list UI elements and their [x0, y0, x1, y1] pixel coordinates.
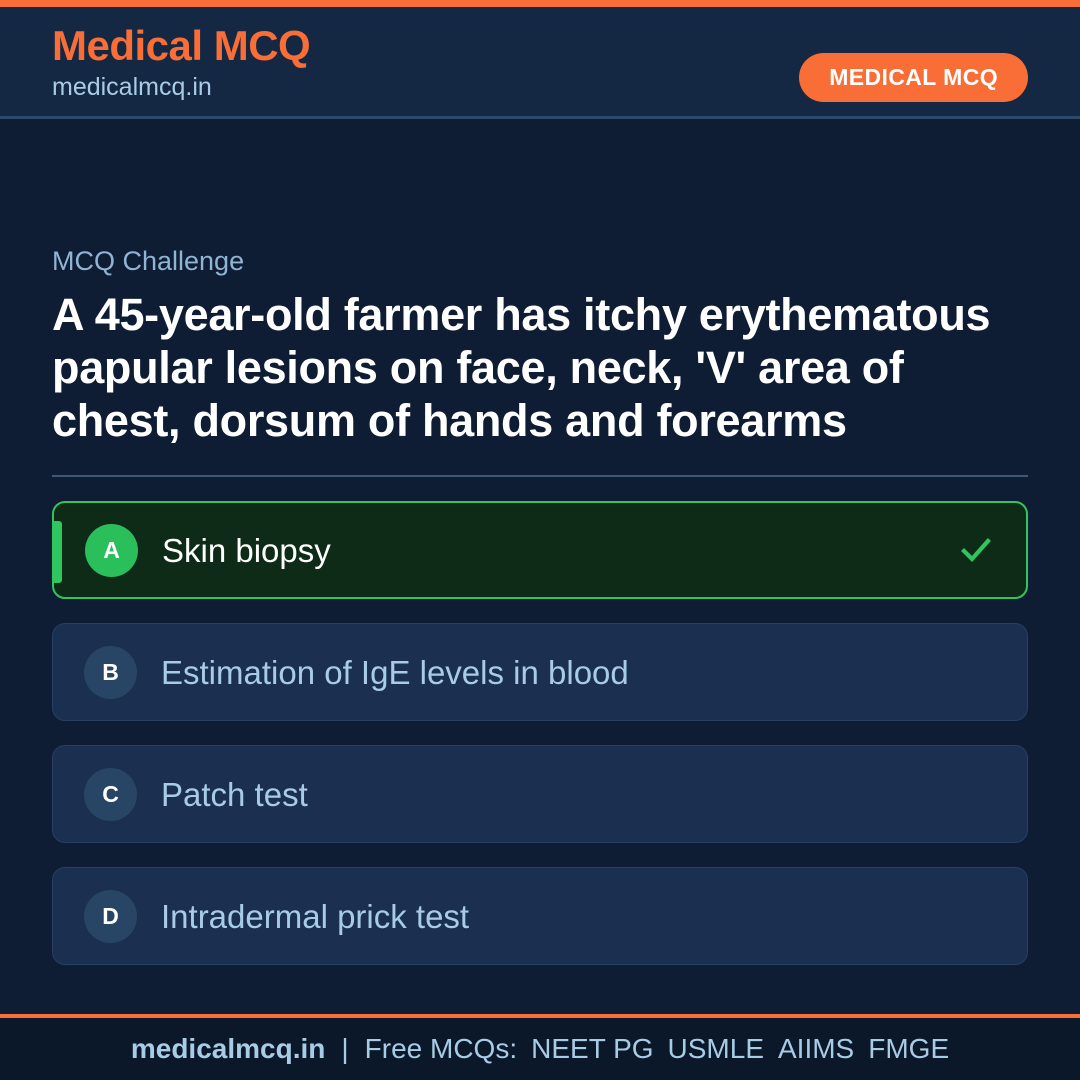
- page-footer: medicalmcq.in|Free MCQs:NEET PGUSMLEAIIM…: [0, 1014, 1080, 1080]
- footer-exam-neet: NEET PG: [517, 1033, 653, 1064]
- footer-label: Free MCQs:: [365, 1033, 517, 1064]
- footer-site[interactable]: medicalmcq.in: [131, 1033, 326, 1064]
- eyebrow-label: MCQ Challenge: [52, 245, 1028, 277]
- footer-text: medicalmcq.in|Free MCQs:NEET PGUSMLEAIIM…: [131, 1035, 949, 1063]
- brand-title: Medical MCQ: [52, 22, 310, 70]
- brand-subtitle: medicalmcq.in: [52, 72, 310, 102]
- option-d-badge: D: [84, 890, 137, 943]
- option-c-label: Patch test: [161, 775, 1027, 815]
- option-b[interactable]: B Estimation of IgE levels in blood: [52, 623, 1028, 721]
- question-text: A 45-year-old farmer has itchy erythemat…: [52, 289, 1028, 447]
- main-content: MCQ Challenge A 45-year-old farmer has i…: [0, 122, 1080, 965]
- page-header: Medical MCQ medicalmcq.in MEDICAL MCQ: [0, 7, 1080, 119]
- check-icon: [959, 533, 993, 567]
- option-a-badge: A: [85, 524, 138, 577]
- footer-exam-fmge: FMGE: [854, 1033, 949, 1064]
- option-c[interactable]: C Patch test: [52, 745, 1028, 843]
- footer-exam-usmle: USMLE: [654, 1033, 764, 1064]
- option-a-label: Skin biopsy: [162, 531, 959, 571]
- option-d-label: Intradermal prick test: [161, 897, 1027, 937]
- header-badge: MEDICAL MCQ: [799, 53, 1028, 102]
- footer-exam-aiims: AIIMS: [764, 1033, 854, 1064]
- option-d[interactable]: D Intradermal prick test: [52, 867, 1028, 965]
- options-list: A Skin biopsy B Estimation of IgE levels…: [52, 501, 1028, 965]
- option-b-label: Estimation of IgE levels in blood: [161, 653, 1027, 693]
- option-b-badge: B: [84, 646, 137, 699]
- section-divider: [52, 475, 1028, 477]
- footer-separator: |: [325, 1033, 364, 1064]
- brand: Medical MCQ medicalmcq.in: [52, 22, 310, 102]
- option-c-badge: C: [84, 768, 137, 821]
- top-accent-bar: [0, 0, 1080, 7]
- option-a[interactable]: A Skin biopsy: [52, 501, 1028, 599]
- correct-accent-bar: [54, 521, 62, 583]
